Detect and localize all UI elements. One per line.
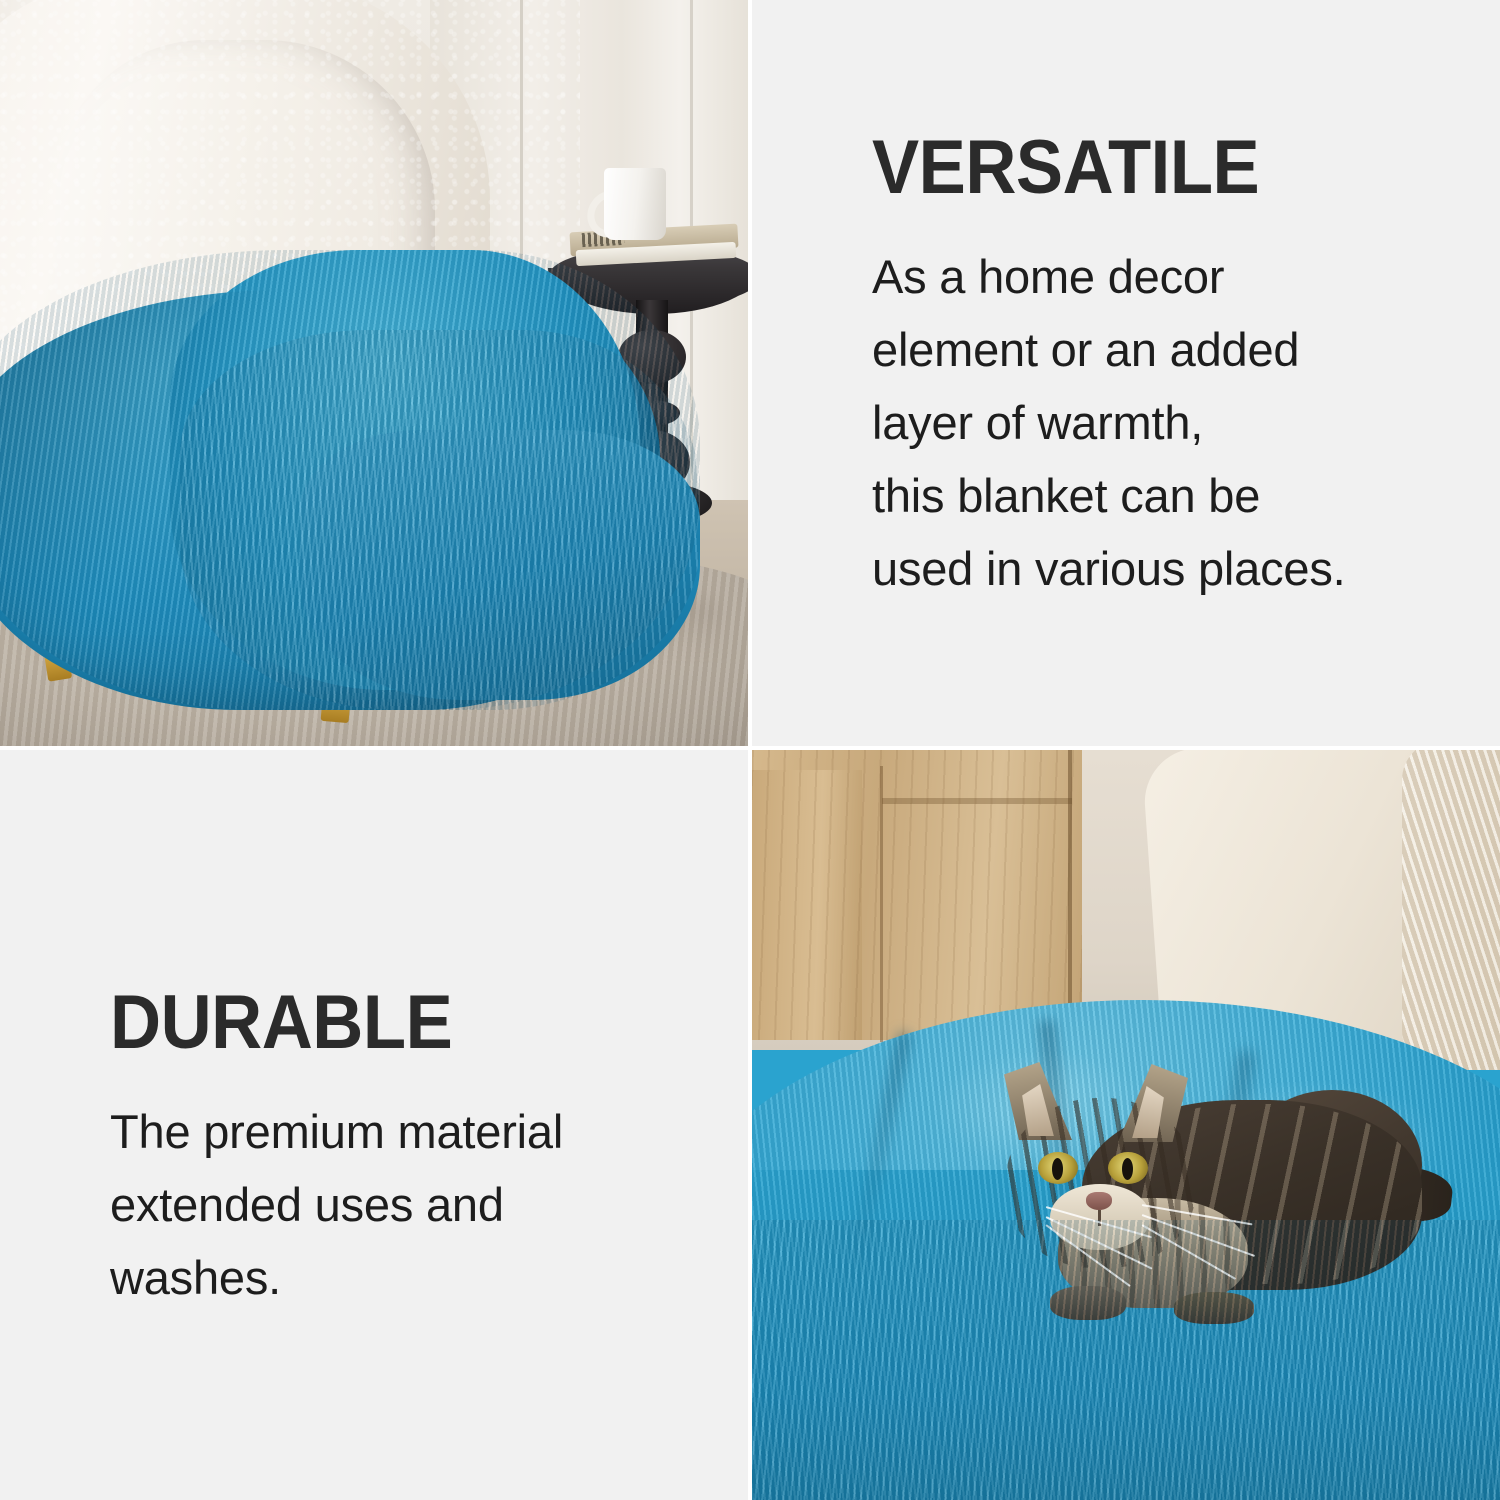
headboard-seam xyxy=(1068,750,1072,1040)
durable-body-line: The premium material xyxy=(110,1095,710,1168)
durable-text-block: DURABLE The premium material extended us… xyxy=(110,985,710,1314)
panel-durable: DURABLE The premium material extended us… xyxy=(0,750,748,1500)
versatile-body-line: used in various places. xyxy=(872,532,1472,605)
photo-chair-scene xyxy=(0,0,748,746)
durable-body-line: washes. xyxy=(110,1241,710,1314)
wood-grain-texture xyxy=(752,750,1082,1040)
headboard-seam xyxy=(880,766,883,1042)
versatile-body-line: element or an added xyxy=(872,313,1472,386)
chair-scene-room xyxy=(0,0,748,746)
photo-cat-scene xyxy=(752,750,1500,1500)
versatile-heading: VERSATILE xyxy=(872,130,1430,206)
panel-versatile: VERSATILE As a home decor element or an … xyxy=(752,0,1500,746)
versatile-body: As a home decor element or an added laye… xyxy=(872,240,1472,605)
versatile-text-block: VERSATILE As a home decor element or an … xyxy=(872,130,1472,605)
coffee-mug xyxy=(604,168,666,240)
throw-fur-texture xyxy=(180,330,700,710)
durable-heading: DURABLE xyxy=(110,985,668,1061)
product-infographic: VERSATILE As a home decor element or an … xyxy=(0,0,1500,1500)
versatile-body-line: As a home decor xyxy=(872,240,1472,313)
blanket-shag-texture-foreground xyxy=(752,1220,1500,1500)
cream-fur-texture xyxy=(1402,750,1500,1070)
durable-body-line: extended uses and xyxy=(110,1168,710,1241)
cat-nose xyxy=(1086,1192,1112,1210)
versatile-body-line: layer of warmth, xyxy=(872,386,1472,459)
cat-pupil-left xyxy=(1052,1158,1063,1180)
vertical-gutter xyxy=(748,0,752,1500)
cat-scene-bedroom xyxy=(752,750,1500,1500)
durable-body: The premium material extended uses and w… xyxy=(110,1095,710,1314)
horizontal-gutter xyxy=(0,746,1500,750)
headboard-ledge xyxy=(882,798,1072,804)
versatile-body-line: this blanket can be xyxy=(872,459,1472,532)
cat-pupil-right xyxy=(1122,1158,1133,1180)
